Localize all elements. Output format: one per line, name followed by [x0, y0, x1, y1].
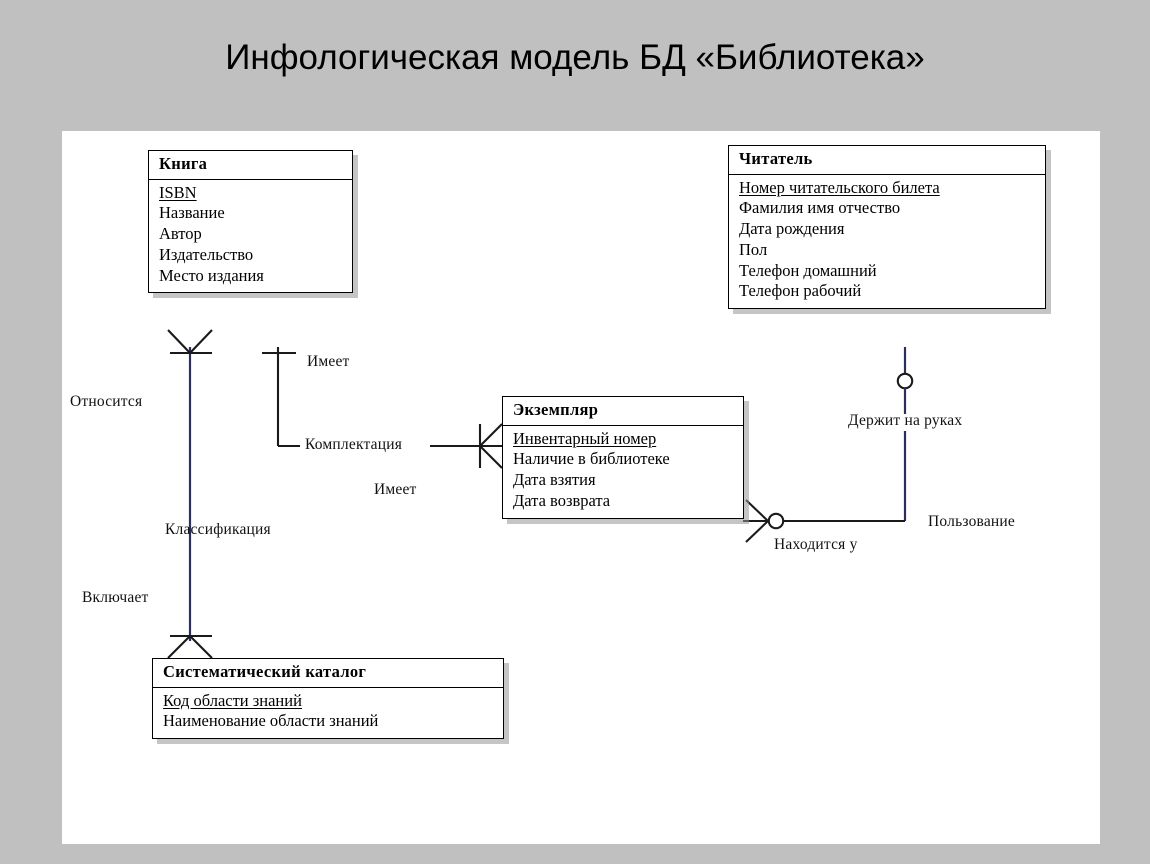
entity-copy-attributes: Инвентарный номер Наличие в библиотеке Д…	[503, 426, 743, 518]
attribute-author: Автор	[159, 224, 344, 245]
entity-book-attributes: ISBN Название Автор Издательство Место и…	[149, 180, 352, 293]
relationship-label-klassifikaciya: Классификация	[165, 521, 271, 539]
relationship-label-polzovanie: Пользование	[928, 513, 1015, 531]
attribute-availability: Наличие в библиотеке	[513, 449, 735, 470]
relationship-label-imeet-bottom: Имеет	[374, 481, 417, 499]
relationship-label-vkluchaet: Включает	[82, 589, 149, 607]
attribute-full-name: Фамилия имя отчество	[739, 198, 1037, 219]
attribute-library-card-number: Номер читательского билета	[739, 178, 1037, 199]
attribute-publisher: Издательство	[159, 245, 344, 266]
relationship-label-otnositsya: Относится	[70, 393, 142, 411]
attribute-home-phone: Телефон домашний	[739, 261, 1037, 282]
entity-reader-title: Читатель	[729, 146, 1045, 175]
entity-catalog[interactable]: Систематический каталог Код области знан…	[152, 658, 504, 739]
entity-reader-attributes: Номер читательского билета Фамилия имя о…	[729, 175, 1045, 309]
page-title: Инфологическая модель БД «Библиотека»	[0, 38, 1150, 78]
attribute-birth-date: Дата рождения	[739, 219, 1037, 240]
entity-catalog-attributes: Код области знаний Наименование области …	[153, 688, 503, 739]
entity-copy[interactable]: Экземпляр Инвентарный номер Наличие в би…	[502, 396, 744, 519]
attribute-work-phone: Телефон рабочий	[739, 281, 1037, 302]
attribute-knowledge-area-name: Наименование области знаний	[163, 711, 495, 732]
entity-book[interactable]: Книга ISBN Название Автор Издательство М…	[148, 150, 353, 293]
slide: Инфологическая модель БД «Библиотека»	[0, 0, 1150, 864]
relationship-label-imeet-top: Имеет	[307, 353, 350, 371]
entity-book-title: Книга	[149, 151, 352, 180]
attribute-isbn: ISBN	[159, 183, 344, 204]
attribute-place-of-publication: Место издания	[159, 266, 344, 287]
relationship-label-derzhit-na-rukah: Держит на руках	[848, 412, 962, 430]
attribute-gender: Пол	[739, 240, 1037, 261]
attribute-title: Название	[159, 203, 344, 224]
attribute-knowledge-area-code: Код области знаний	[163, 691, 495, 712]
diagram-canvas: Книга ISBN Название Автор Издательство М…	[62, 131, 1100, 844]
relationship-label-komplektaciya: Комплектация	[305, 436, 402, 454]
entity-catalog-title: Систематический каталог	[153, 659, 503, 688]
entity-copy-title: Экземпляр	[503, 397, 743, 426]
attribute-return-date: Дата возврата	[513, 491, 735, 512]
attribute-borrow-date: Дата взятия	[513, 470, 735, 491]
relationship-label-nahoditsya-u: Находится у	[774, 536, 858, 554]
attribute-inventory-number: Инвентарный номер	[513, 429, 735, 450]
entity-reader[interactable]: Читатель Номер читательского билета Фами…	[728, 145, 1046, 309]
